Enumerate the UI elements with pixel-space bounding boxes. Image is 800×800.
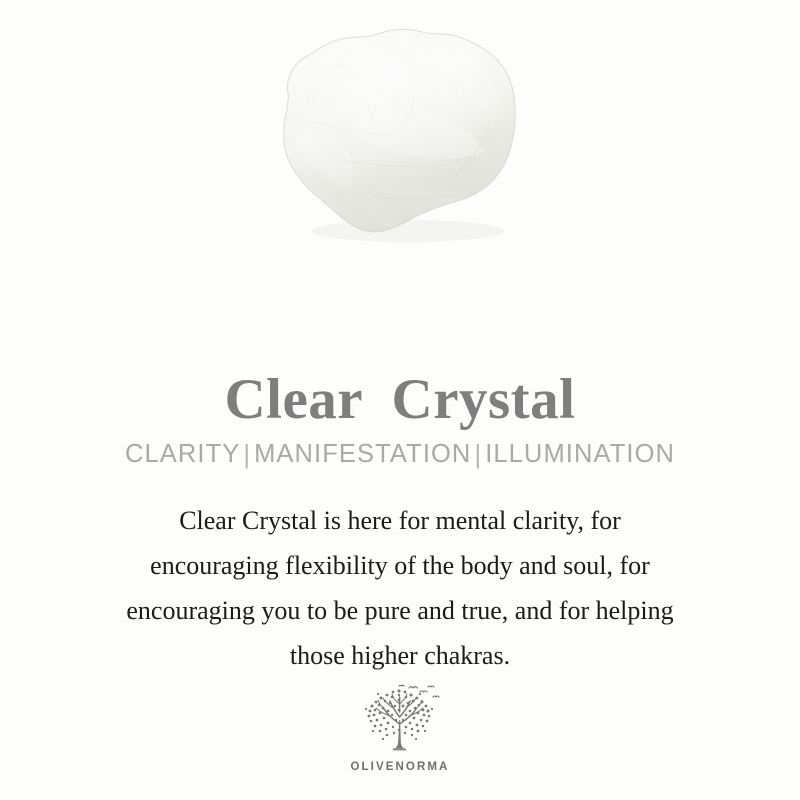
keyword-illumination: ILLUMINATION [485,440,675,468]
description-line: Clear Crystal is here for mental clarity… [0,498,800,543]
description-line: encouraging flexibility of the body and … [0,543,800,588]
brand-name: OLIVENORMA [351,761,450,773]
keyword-separator: | [240,441,254,469]
description-line: encouraging you to be pure and true, and… [0,588,800,633]
product-image-container [0,0,800,300]
keyword-separator: | [471,441,485,469]
keyword-manifestation: MANIFESTATION [254,440,471,468]
product-info-card: Clear Crystal CLARITY|MANIFESTATION|ILLU… [0,0,800,800]
page-title: Clear Crystal [0,370,800,430]
keyword-clarity: CLARITY [125,440,240,468]
keyword-list: CLARITY|MANIFESTATION|ILLUMINATION [0,440,800,468]
brand-logo: OLIVENORMA [0,684,800,773]
description-line: those higher chakras. [0,633,800,678]
olive-tree-with-birds-icon [354,684,446,760]
raw-clear-quartz-crystal-icon [240,0,560,270]
product-description: Clear Crystal is here for mental clarity… [0,498,800,678]
